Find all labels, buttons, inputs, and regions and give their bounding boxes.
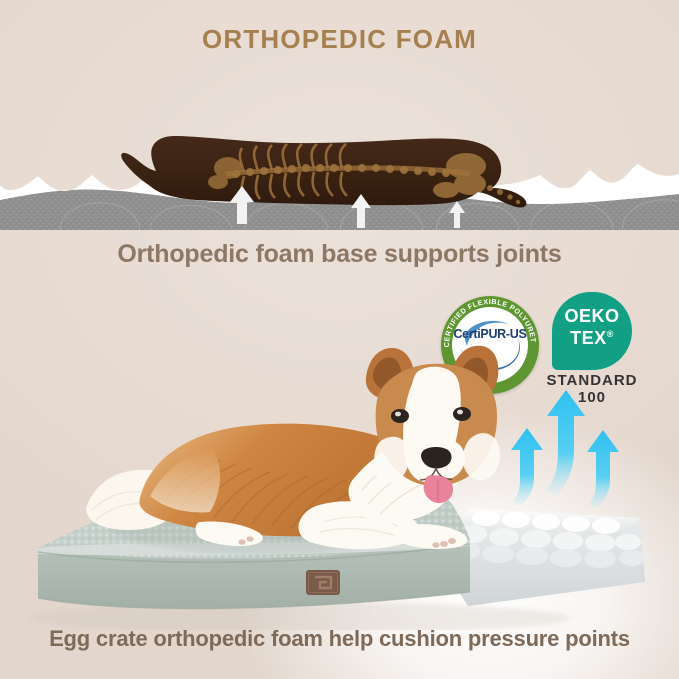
airflow-arrow-left — [511, 428, 543, 506]
brand-logo-patch — [306, 570, 340, 595]
oeko-tex-line1: OEKO — [548, 306, 636, 327]
caption-egg-crate-foam: Egg crate orthopedic foam help cushion p… — [0, 626, 679, 652]
airflow-arrow-right — [587, 430, 619, 508]
caption-orthopedic-support: Orthopedic foam base supports joints — [0, 240, 679, 269]
orthopedic-foam-cross-section-diagram — [0, 78, 679, 238]
dog-head — [366, 346, 500, 503]
dog-silhouette-with-skeleton — [121, 136, 526, 208]
product-photo-scene — [0, 330, 679, 630]
egg-crate-foam-layer — [440, 508, 645, 606]
page-title: ORTHOPEDIC FOAM — [0, 24, 679, 55]
airflow-arrows — [511, 390, 619, 508]
airflow-arrow-center — [546, 390, 585, 496]
product-marketing-image: ORTHOPEDIC FOAM — [0, 0, 679, 679]
